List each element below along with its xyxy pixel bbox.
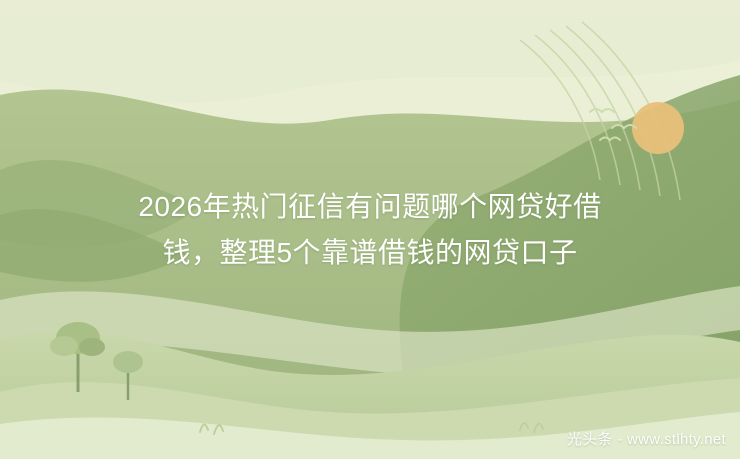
banner-image: 2026年热门征信有问题哪个网贷好借 钱，整理5个靠谱借钱的网贷口子 光头条 -… (0, 0, 740, 459)
sun-icon (632, 102, 684, 154)
background-illustration (0, 0, 740, 459)
watermark-text: 光头条 - www.stlhty.net (567, 428, 726, 449)
